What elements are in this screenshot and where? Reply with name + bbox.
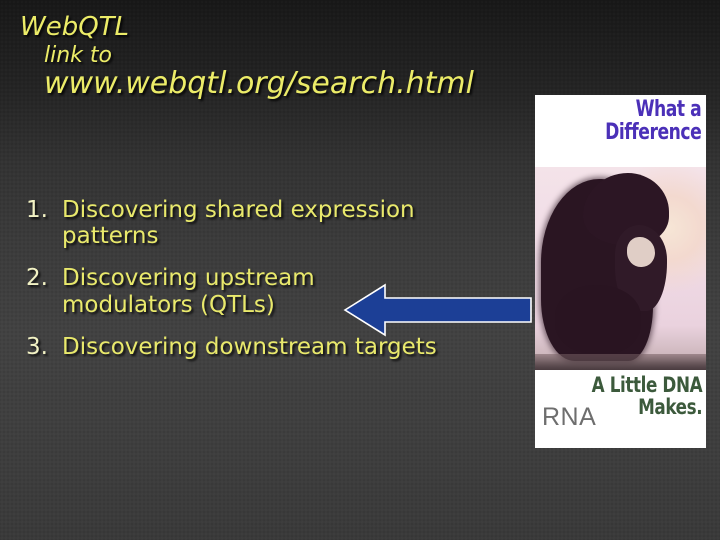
list-item-number: 1. [26, 197, 62, 223]
arrow-shape [345, 285, 531, 335]
poster-headline-line-1: What a [605, 99, 701, 122]
title-line-3-url[interactable]: www.webqtl.org/search.html [44, 68, 520, 100]
title-line-1: WebQTL [20, 14, 520, 42]
list-item: 1. Discovering shared expression pattern… [26, 197, 496, 249]
list-item-label: Discovering upstream modulators (QTLs) [62, 265, 362, 317]
page-title: WebQTL link to www.webqtl.org/search.htm… [20, 14, 520, 100]
chimp-ground-shadow [535, 354, 706, 370]
poster-subhead-line-2: Makes. [591, 396, 702, 418]
poster-headline-line-2: Difference [605, 122, 701, 145]
poster-image: What a Difference A Little DNA Makes. RN… [535, 95, 706, 448]
list-item-number: 3. [26, 334, 62, 360]
poster-top-band: What a Difference [535, 95, 706, 167]
title-line-2: link to [44, 44, 520, 67]
poster-bottom-band: A Little DNA Makes. RNA [535, 370, 706, 448]
slide-canvas: WebQTL link to www.webqtl.org/search.htm… [0, 0, 720, 540]
list-item-number: 2. [26, 265, 62, 291]
poster-subhead: A Little DNA Makes. [591, 374, 702, 418]
list-item-label: Discovering shared expression patterns [62, 197, 454, 249]
rna-overlay-label: RNA [542, 403, 596, 432]
poster-headline: What a Difference [605, 99, 701, 144]
poster-subhead-line-1: A Little DNA [591, 374, 702, 396]
left-arrow-icon [343, 281, 533, 339]
chimp-hand-shape [627, 237, 655, 267]
chimp-knee-shape [555, 285, 641, 353]
chimpanzee-photo [535, 167, 706, 370]
